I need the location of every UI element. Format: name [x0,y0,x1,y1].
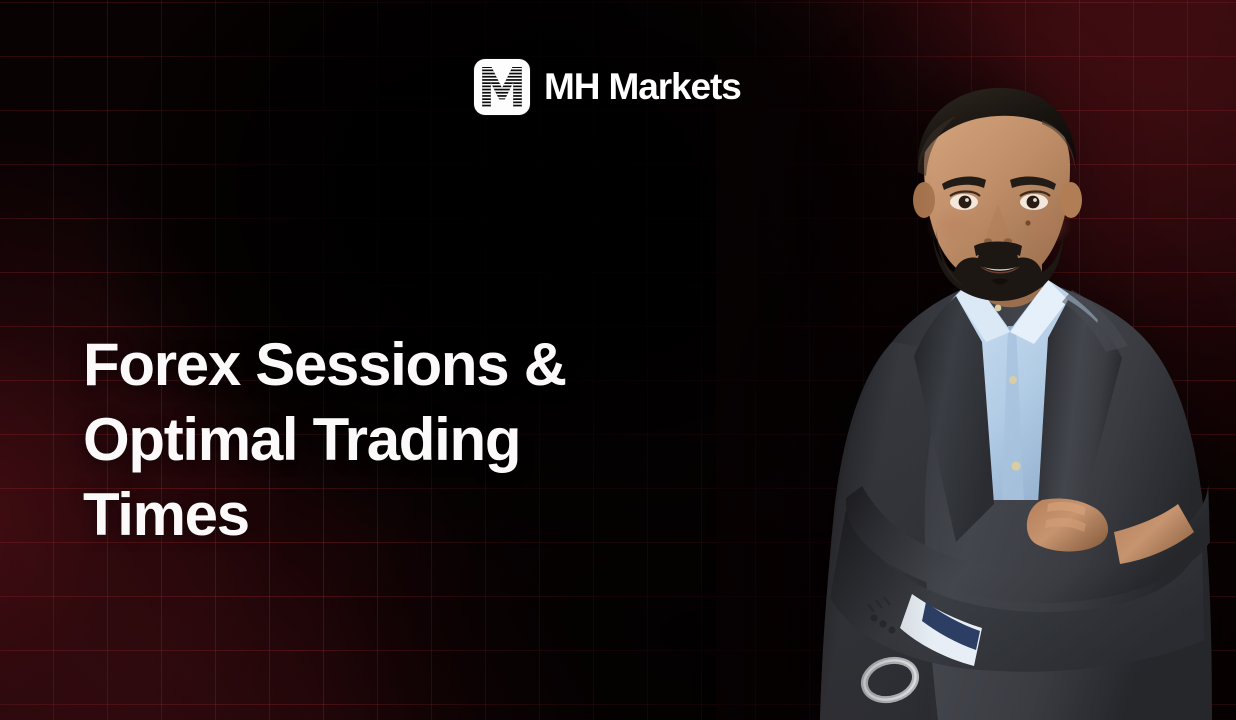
brand-lockup: MH Markets [474,59,741,115]
shirt-button [1011,461,1020,470]
eye-glint-right [1033,198,1037,202]
cheek-left [926,206,978,246]
hero-banner: MH Markets Forex Sessions & Optimal Trad… [0,0,1236,720]
hero-title: Forex Sessions & Optimal Trading Times [83,327,693,552]
hero-title-line-1: Forex Sessions & [83,327,693,402]
pupil-right [1027,196,1040,209]
hero-title-line-3: Times [83,477,693,552]
collar-button [995,305,1002,312]
pupil-left [959,196,972,209]
brand-wordmark: MH Markets [544,68,741,105]
eye-glint-left [965,198,969,202]
cheek-right [1020,206,1072,246]
hero-title-line-2: Optimal Trading [83,402,693,477]
shirt-button [1009,376,1017,384]
mh-monogram-icon [474,59,530,115]
ear-left [913,182,935,218]
presenter-photo [742,80,1236,720]
